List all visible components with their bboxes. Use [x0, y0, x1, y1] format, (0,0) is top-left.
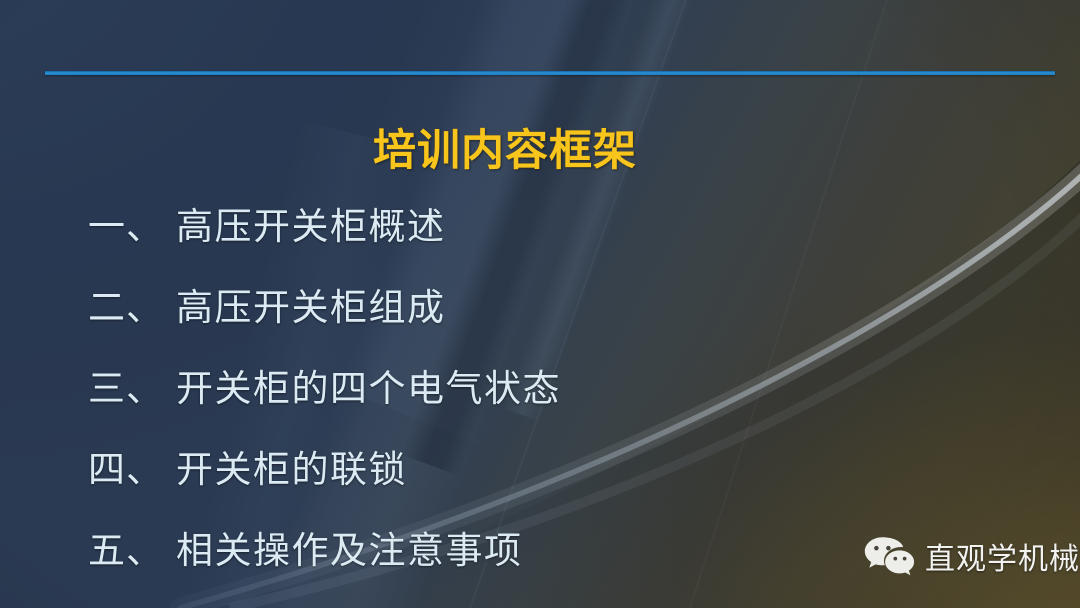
outline-item-5: 五、 相关操作及注意事项 — [88, 520, 828, 601]
wechat-icon — [862, 535, 914, 577]
outline-item-5-index: 五、 — [88, 520, 176, 574]
wechat-watermark: 直观学机械 — [862, 534, 1080, 578]
outline-item-4: 四、 开关柜的联锁 — [88, 439, 828, 520]
outline-item-4-label: 开关柜的联锁 — [176, 439, 407, 493]
outline-item-3-index: 三、 — [88, 358, 176, 412]
outline-item-2: 二、 高压开关柜组成 — [88, 277, 828, 358]
outline-item-3: 三、 开关柜的四个电气状态 — [88, 358, 828, 439]
slide-title: 培训内容框架 — [0, 116, 1010, 178]
outline-item-5-label: 相关操作及注意事项 — [176, 520, 523, 574]
outline-item-4-index: 四、 — [88, 439, 176, 493]
outline-item-1-index: 一、 — [88, 196, 176, 250]
outline-item-1: 一、 高压开关柜概述 — [88, 196, 828, 277]
outline-item-2-index: 二、 — [88, 277, 176, 331]
presentation-slide: 培训内容框架 一、 高压开关柜概述 二、 高压开关柜组成 三、 开关柜的四个电气… — [0, 0, 1080, 608]
outline-item-3-label: 开关柜的四个电气状态 — [176, 358, 561, 412]
outline-list: 一、 高压开关柜概述 二、 高压开关柜组成 三、 开关柜的四个电气状态 四、 开… — [88, 196, 828, 601]
watermark-label: 直观学机械 — [925, 534, 1080, 578]
outline-item-2-label: 高压开关柜组成 — [176, 277, 446, 331]
outline-item-1-label: 高压开关柜概述 — [176, 196, 446, 250]
title-divider-rule — [45, 71, 1055, 75]
